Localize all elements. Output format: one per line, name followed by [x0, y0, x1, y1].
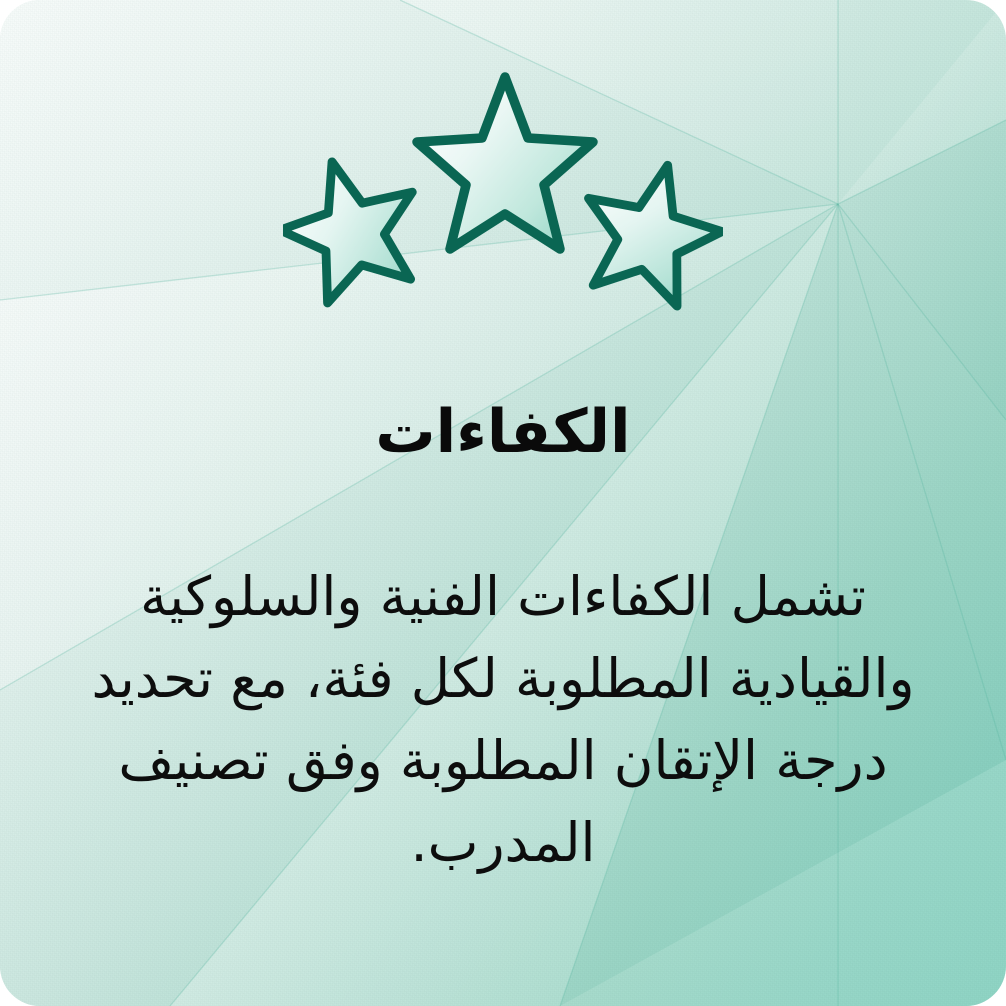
page-title: الكفاءات: [0, 398, 1006, 467]
competency-card: الكفاءات تشمل الكفاءات الفنية والسلوكية …: [0, 0, 1006, 1006]
three-stars-icon: [0, 70, 1006, 320]
description-text: تشمل الكفاءات الفنية والسلوكية والقيادية…: [70, 556, 936, 884]
